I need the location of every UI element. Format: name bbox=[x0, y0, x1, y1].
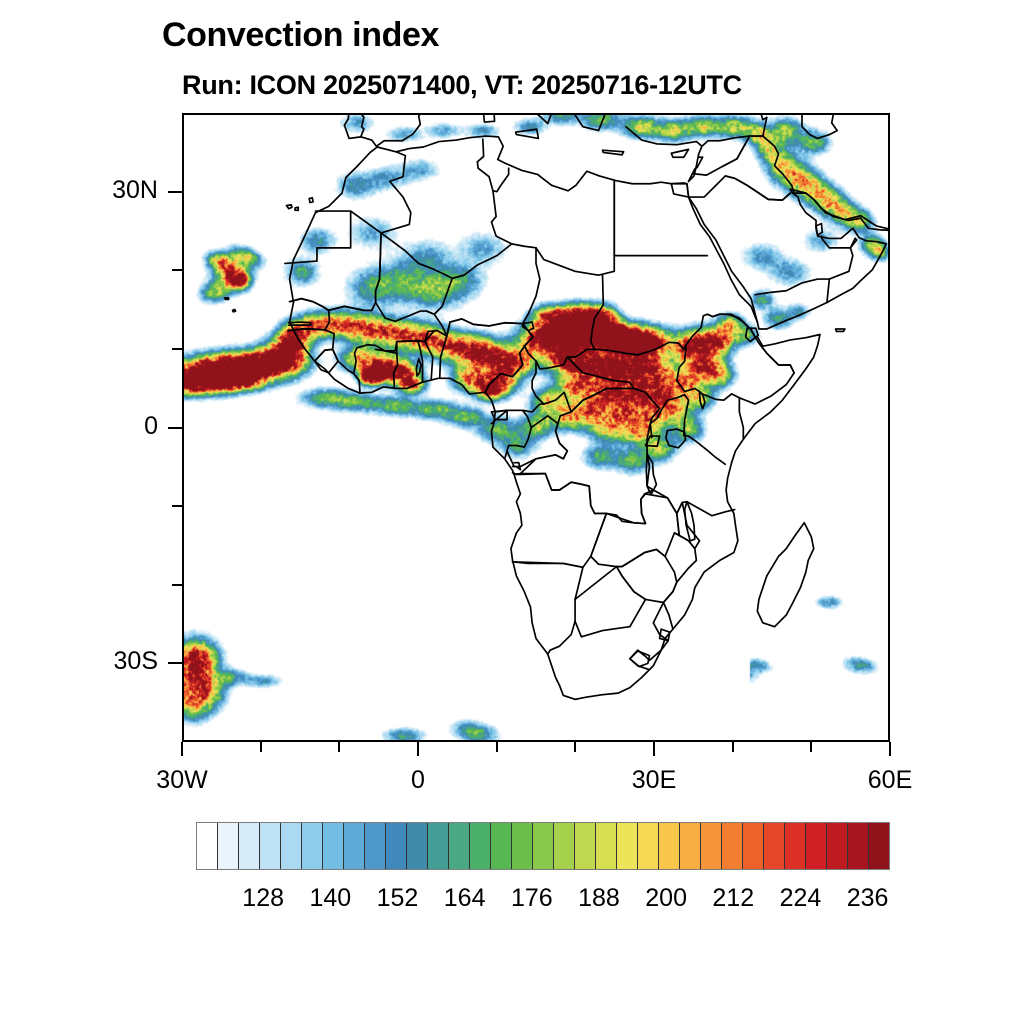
geo-b-sudan-eth bbox=[686, 314, 727, 345]
geo-socotra bbox=[836, 329, 845, 331]
geo-b-ssudan-eth bbox=[677, 345, 700, 392]
x-tick-minor bbox=[574, 742, 576, 752]
geo-b-niger-chad bbox=[523, 248, 540, 324]
colorbar-cell[interactable] bbox=[848, 823, 869, 869]
x-tick-minor bbox=[810, 742, 812, 752]
geo-sicily bbox=[516, 129, 539, 138]
x-tick-minor bbox=[496, 742, 498, 752]
geo-cape-verde2 bbox=[225, 298, 229, 300]
geo-canaries3 bbox=[287, 205, 292, 209]
geo-b-iran-e bbox=[794, 138, 888, 230]
geo-b-lesotho bbox=[630, 651, 650, 667]
x-tick-minor bbox=[260, 742, 262, 752]
geo-b-algeria-s bbox=[381, 233, 512, 278]
colorbar-cell[interactable] bbox=[659, 823, 680, 869]
colorbar-tick-label: 212 bbox=[712, 884, 754, 913]
geo-africa-east-coast bbox=[290, 303, 820, 700]
geo-caspian bbox=[794, 115, 837, 138]
x-tick-minor bbox=[338, 742, 340, 752]
colorbar-cell[interactable] bbox=[869, 823, 889, 869]
colorbar-swatches[interactable] bbox=[196, 822, 890, 870]
geo-b-nigeria-w bbox=[440, 319, 533, 392]
geo-iberia-med bbox=[344, 115, 739, 146]
geo-lake-volta bbox=[416, 359, 421, 376]
geo-b-sudan-chad bbox=[591, 275, 604, 349]
colorbar-tick-label: 140 bbox=[309, 884, 351, 913]
geo-b-sierra bbox=[315, 349, 338, 372]
y-axis-label: 30S bbox=[114, 647, 158, 676]
colorbar-cell[interactable] bbox=[827, 823, 848, 869]
geo-b-tunisia-lib bbox=[493, 168, 509, 191]
geo-cape-verde bbox=[233, 310, 236, 312]
geo-b-zimbabwe bbox=[617, 549, 677, 602]
geo-b-ghana-ci bbox=[394, 341, 418, 388]
colorbar-cell[interactable] bbox=[470, 823, 491, 869]
y-tick-minor bbox=[172, 584, 182, 586]
colorbar-cell[interactable] bbox=[344, 823, 365, 869]
geo-b-chad-car bbox=[524, 345, 594, 368]
colorbar-cell[interactable] bbox=[386, 823, 407, 869]
x-axis-label: 60E bbox=[868, 766, 912, 795]
geo-b-botswana bbox=[575, 567, 645, 637]
x-tick-major bbox=[417, 742, 419, 756]
map-plot-area bbox=[182, 113, 890, 742]
geo-lake-victoria bbox=[666, 429, 686, 448]
geo-b-saudi-yemen bbox=[755, 279, 829, 302]
geo-b-iraq-saudi bbox=[725, 176, 790, 200]
y-tick-minor bbox=[172, 505, 182, 507]
geo-mediterranean-north bbox=[344, 115, 456, 125]
geo-sardinia bbox=[483, 115, 495, 122]
geo-b-tanzania bbox=[653, 490, 734, 516]
x-tick-major bbox=[181, 742, 183, 756]
x-tick-minor bbox=[732, 742, 734, 752]
x-tick-major bbox=[889, 742, 891, 756]
run-valid-time-subtitle: Run: ICON 2025071400, VT: 20250716-12UTC bbox=[182, 70, 742, 101]
colorbar-cell[interactable] bbox=[743, 823, 764, 869]
geo-b-kenya-som bbox=[739, 398, 743, 439]
colorbar-cell[interactable] bbox=[281, 823, 302, 869]
colorbar-tick-label: 128 bbox=[242, 884, 284, 913]
colorbar-cell[interactable] bbox=[680, 823, 701, 869]
colorbar-cell[interactable] bbox=[491, 823, 512, 869]
geo-b-congo bbox=[507, 416, 567, 467]
colorbar[interactable] bbox=[196, 822, 890, 870]
colorbar-cell[interactable] bbox=[512, 823, 533, 869]
colorbar-cell[interactable] bbox=[239, 823, 260, 869]
colorbar-cell[interactable] bbox=[323, 823, 344, 869]
geo-b-turkey-syr bbox=[702, 136, 750, 146]
x-axis-label: 0 bbox=[411, 766, 425, 795]
colorbar-cell[interactable] bbox=[638, 823, 659, 869]
y-axis-label: 30N bbox=[112, 176, 158, 205]
y-tick-minor bbox=[172, 269, 182, 271]
colorbar-cell[interactable] bbox=[701, 823, 722, 869]
y-tick-major bbox=[168, 427, 182, 429]
coastlines-and-borders-overlay bbox=[184, 115, 888, 740]
colorbar-cell[interactable] bbox=[596, 823, 617, 869]
colorbar-tick-label: 224 bbox=[780, 884, 822, 913]
geo-madagascar bbox=[757, 523, 813, 627]
colorbar-cell[interactable] bbox=[428, 823, 449, 869]
geo-b-car-drc bbox=[536, 357, 634, 412]
geo-b-ci-liberia bbox=[354, 345, 397, 393]
geo-b-sinai bbox=[671, 184, 688, 197]
geo-b-kenya-tz bbox=[684, 435, 725, 464]
geo-b-syria-iraq bbox=[722, 136, 794, 193]
geo-b-mali-niger bbox=[427, 275, 464, 314]
geo-b-namibia bbox=[513, 562, 583, 654]
geo-b-malawi bbox=[677, 503, 700, 549]
colorbar-tick-label: 176 bbox=[511, 884, 553, 913]
colorbar-cell[interactable] bbox=[554, 823, 575, 869]
colorbar-cell[interactable] bbox=[365, 823, 386, 869]
colorbar-cell[interactable] bbox=[197, 823, 218, 869]
colorbar-cell[interactable] bbox=[302, 823, 323, 869]
colorbar-tick-label: 236 bbox=[847, 884, 889, 913]
colorbar-cell[interactable] bbox=[260, 823, 281, 869]
geo-b-eritrea bbox=[707, 314, 755, 337]
geo-turkey-south bbox=[626, 127, 702, 182]
colorbar-cell[interactable] bbox=[722, 823, 743, 869]
x-axis-label: 30E bbox=[632, 766, 676, 795]
geo-canaries bbox=[309, 198, 313, 203]
geo-b-iran-turkey bbox=[750, 115, 767, 136]
geo-b-niger-nigeria bbox=[447, 319, 523, 336]
geo-cyprus bbox=[671, 149, 688, 157]
chart-page: Convection index Run: ICON 2025071400, V… bbox=[0, 0, 1024, 1024]
geo-b-mali-mr bbox=[329, 233, 381, 310]
geo-b-qatar bbox=[816, 224, 822, 236]
colorbar-cell[interactable] bbox=[218, 823, 239, 869]
colorbar-cell[interactable] bbox=[617, 823, 638, 869]
colorbar-cell[interactable] bbox=[764, 823, 785, 869]
geo-b-spain-port bbox=[349, 115, 365, 137]
colorbar-tick-label: 164 bbox=[444, 884, 486, 913]
geo-b-jordan-syria bbox=[692, 136, 749, 175]
geo-b-mauritania-s bbox=[290, 233, 381, 310]
geo-b-somalia-n bbox=[759, 343, 794, 373]
page-title: Convection index bbox=[162, 16, 439, 55]
x-axis-label: 30W bbox=[156, 766, 207, 795]
colorbar-cell[interactable] bbox=[407, 823, 428, 869]
geo-b-sudan-ssudan bbox=[595, 342, 686, 355]
geo-b-arabia bbox=[689, 176, 791, 200]
y-tick-major bbox=[168, 191, 182, 193]
y-tick-major bbox=[168, 662, 182, 664]
geo-b-cameroon bbox=[485, 331, 533, 393]
colorbar-cell[interactable] bbox=[806, 823, 827, 869]
geo-b-algeria-niger bbox=[512, 244, 536, 248]
colorbar-cell[interactable] bbox=[533, 823, 554, 869]
colorbar-tick-label: 200 bbox=[645, 884, 687, 913]
geo-b-zambia bbox=[591, 494, 679, 567]
colorbar-tick-label: 188 bbox=[578, 884, 620, 913]
colorbar-cell[interactable] bbox=[449, 823, 470, 869]
colorbar-cell[interactable] bbox=[575, 823, 596, 869]
colorbar-tick-label: 152 bbox=[377, 884, 419, 913]
geo-b-libya-chad bbox=[536, 248, 614, 275]
y-axis-label: 0 bbox=[144, 412, 158, 441]
x-tick-major bbox=[653, 742, 655, 756]
y-tick-minor bbox=[172, 348, 182, 350]
geo-crete bbox=[603, 150, 624, 155]
geo-b-gambia bbox=[289, 322, 311, 325]
geo-canaries2 bbox=[295, 207, 298, 210]
colorbar-cell[interactable] bbox=[785, 823, 806, 869]
